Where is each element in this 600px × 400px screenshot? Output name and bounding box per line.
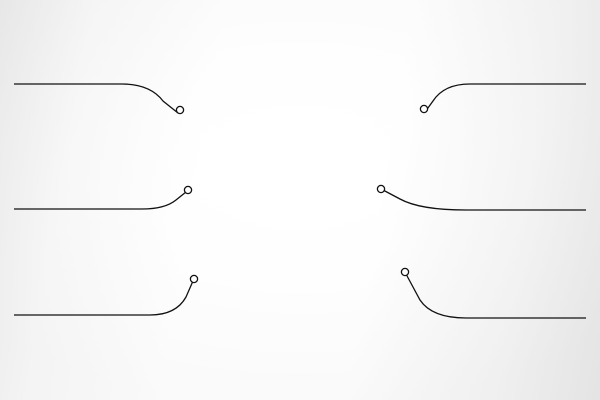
connector-dot-3 [190,275,197,282]
connector-dot-5 [377,185,384,192]
product-infographic: 12 1 2 3 4 5 6 7 8 9 10 11 [0,0,600,400]
connector-line-1 [14,84,178,113]
connector-dot-4 [420,105,427,112]
callout-connector-lines [0,0,600,400]
connector-line-2 [14,192,186,209]
connector-line-5 [383,190,586,210]
connector-dot-6 [401,268,408,275]
connector-line-3 [14,281,193,315]
connector-dot-1 [176,106,183,113]
connector-dot-2 [184,186,191,193]
connector-line-4 [425,84,586,112]
connector-line-6 [406,274,586,318]
